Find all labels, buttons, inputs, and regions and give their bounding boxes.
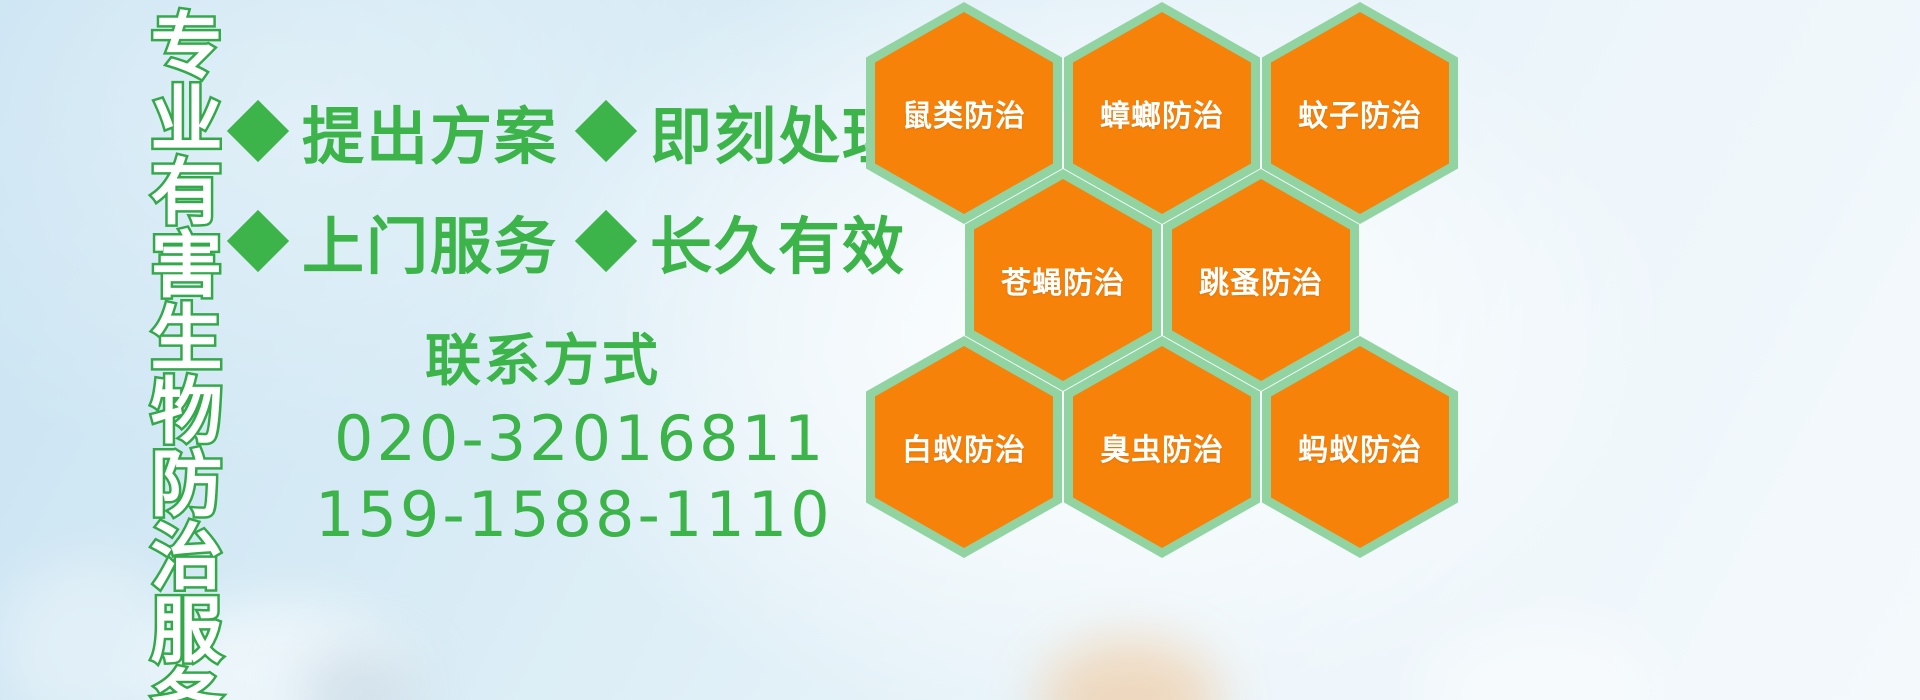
diamond-icon	[227, 210, 289, 272]
service-hexagon-ant[interactable]: 蚂蚁防治	[1262, 336, 1458, 558]
feature-row-2: 上门服务 长久有效	[236, 196, 906, 286]
service-label: 臭虫防治	[1100, 425, 1224, 469]
contact-heading: 联系方式	[425, 316, 661, 397]
background-bokeh-2	[300, 648, 420, 700]
vertical-title: 专业有害生物防治服务	[112, 8, 216, 700]
phone-number-mobile[interactable]: 159-1588-1110	[315, 478, 833, 551]
promo-banner: 专业有害生物防治服务 提出方案 即刻处理 上门服务 长久有效 联系方式 020-…	[0, 0, 1920, 700]
service-label: 蚂蚁防治	[1298, 425, 1422, 469]
service-label: 蚊子防治	[1298, 91, 1422, 135]
diamond-icon	[227, 100, 289, 162]
diamond-icon	[575, 210, 637, 272]
service-label: 鼠类防治	[902, 91, 1026, 135]
phone-number-landline[interactable]: 020-32016811	[334, 402, 826, 475]
service-label: 苍蝇防治	[1001, 258, 1125, 302]
feature-row-1: 提出方案 即刻处理	[236, 86, 906, 176]
service-hexagon-bedbug[interactable]: 臭虫防治	[1064, 336, 1260, 558]
feature-label-propose: 提出方案	[302, 86, 558, 176]
feature-label-onsite: 上门服务	[302, 196, 558, 286]
service-label: 跳蚤防治	[1199, 258, 1323, 302]
service-label: 白蚁防治	[902, 425, 1026, 469]
service-honeycomb: 鼠类防治 蟑螂防治 蚊子防治 苍蝇防治 跳蚤防治	[858, 0, 1478, 552]
diamond-icon	[575, 100, 637, 162]
service-hexagon-termite[interactable]: 白蚁防治	[866, 336, 1062, 558]
background-bokeh-4	[1040, 640, 1220, 700]
service-label: 蟑螂防治	[1100, 91, 1224, 135]
background-bokeh-5	[1420, 620, 1660, 700]
